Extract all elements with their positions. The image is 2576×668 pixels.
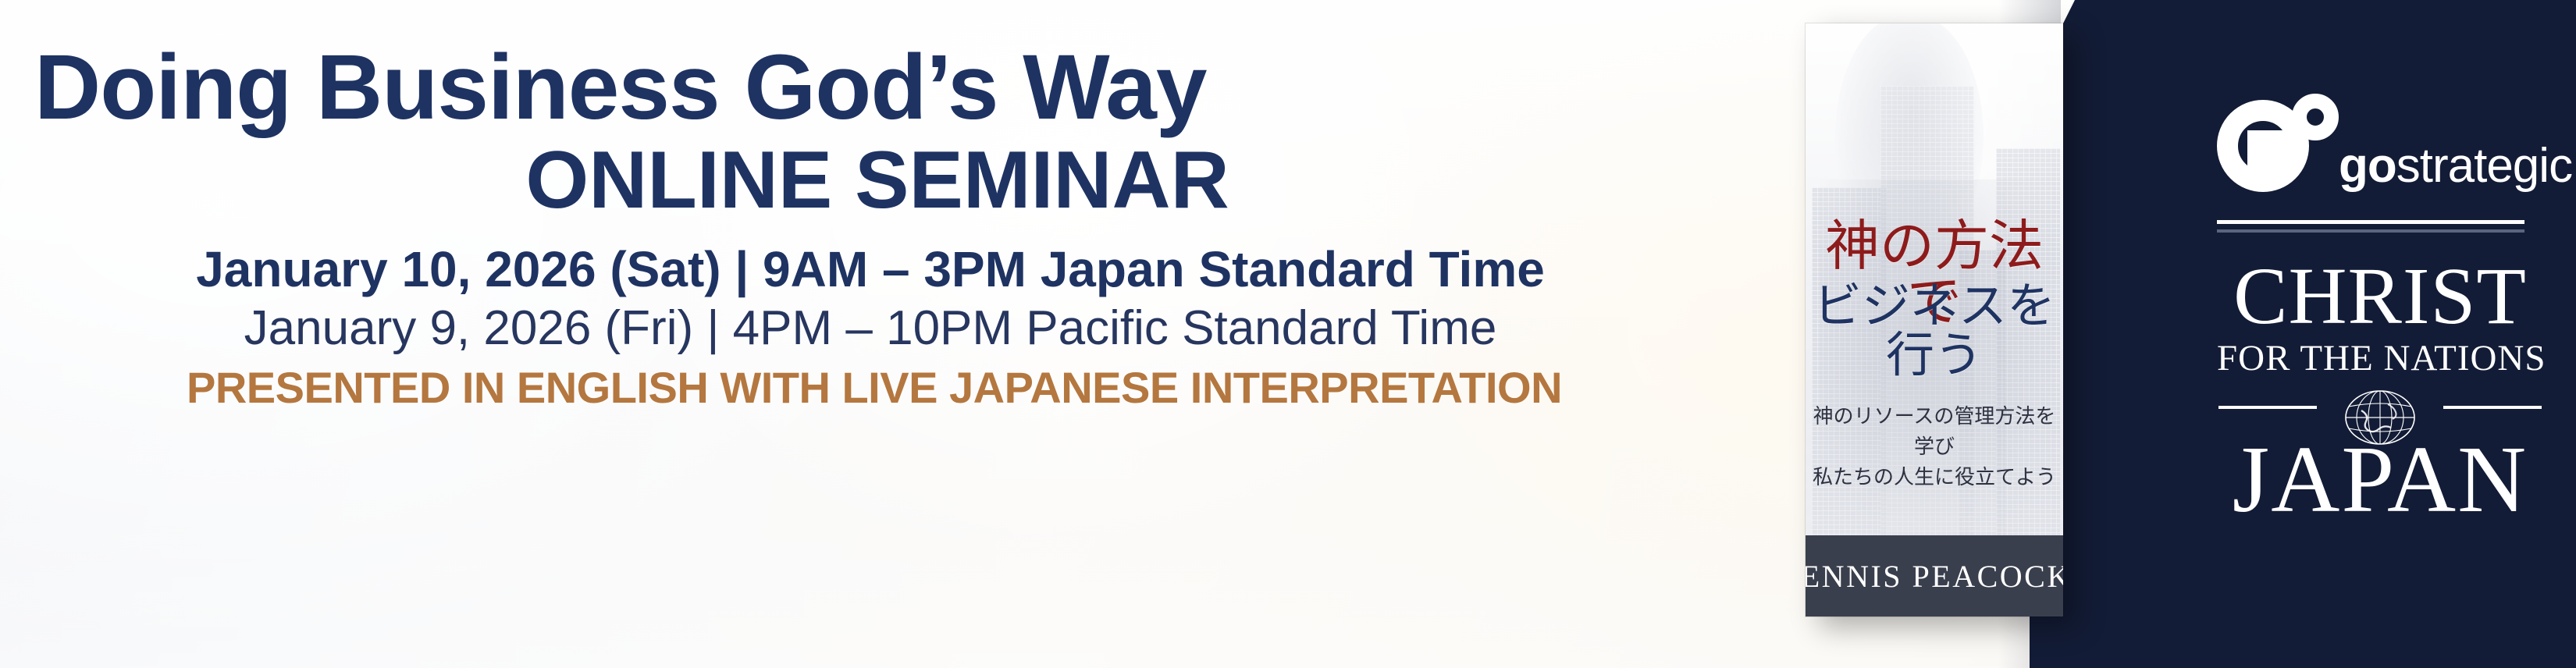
book-author-band: DENNIS PEACOCKE [1806, 535, 2063, 616]
book-subtitle-line-1: 神のリソースの管理方法を学び [1806, 402, 2063, 463]
book-author-name: DENNIS PEACOCKE [1806, 558, 2063, 595]
cfn-rule-right [2443, 406, 2542, 409]
cfn-rule-left [2218, 406, 2317, 409]
book-cover: 神の方法で ビジネスを行う 神のリソースの管理方法を学び 私たちの人生に役立てよ… [1806, 23, 2063, 616]
book-subtitle-line-2: 私たちの人生に役立てよう [1806, 463, 2063, 493]
interpretation-note: PRESENTED IN ENGLISH WITH LIVE JAPANESE … [0, 365, 1749, 411]
cfn-line-christ: CHRIST [2217, 259, 2543, 334]
wordmark-strategic: strategic [2396, 139, 2572, 193]
gostrategic-logo: gostrategic [2197, 76, 2564, 194]
headline-block: Doing Business God’s Way ONLINE SEMINAR … [0, 0, 1756, 668]
gostrategic-wordmark: gostrategic [2339, 142, 2572, 194]
wordmark-go: go [2339, 139, 2396, 193]
globe-icon [2338, 387, 2422, 448]
gostrategic-mark-icon [2217, 94, 2334, 194]
logo-divider-top [2217, 220, 2524, 224]
date-line-japan-time: January 10, 2026 (Sat) | 9AM – 3PM Japan… [0, 243, 1741, 297]
cfn-line-for-the-nations: FOR THE NATIONS [2217, 337, 2543, 379]
book-title-line-2: ビジネスを行う [1806, 281, 2063, 379]
logo-divider-bottom [2217, 229, 2524, 233]
christ-for-the-nations-japan-logo: CHRIST FOR THE NATIONS [2197, 259, 2543, 525]
letter-o-icon [2292, 94, 2339, 140]
seminar-promo-banner: Doing Business God’s Way ONLINE SEMINAR … [0, 0, 2576, 668]
cfn-globe-row [2217, 387, 2543, 439]
logo-stack: gostrategic CHRIST FOR THE NATIONS [2197, 31, 2564, 640]
date-line-pacific-time: January 9, 2026 (Fri) | 4PM – 10PM Pacif… [0, 303, 1741, 354]
page-subtitle: ONLINE SEMINAR [34, 139, 1720, 222]
book-subtitle: 神のリソースの管理方法を学び 私たちの人生に役立てよう [1806, 402, 2063, 493]
page-title: Doing Business God’s Way [34, 41, 1720, 134]
